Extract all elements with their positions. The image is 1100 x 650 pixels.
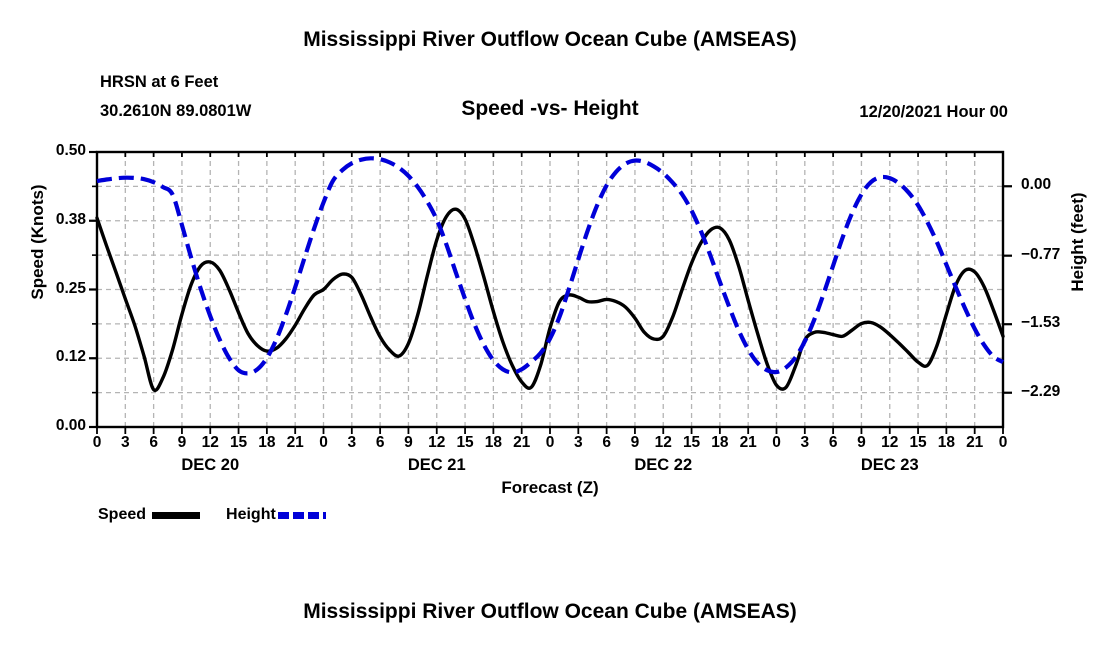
x-tick-label: 0: [762, 434, 792, 452]
x-tick-label: 18: [252, 434, 282, 452]
x-tick-label: 6: [818, 434, 848, 452]
x-day-label: DEC 21: [367, 456, 507, 475]
y-right-tick-label: −2.29: [1021, 383, 1091, 401]
y-left-tick-label: 0.12: [26, 348, 86, 366]
x-tick-label: 18: [478, 434, 508, 452]
x-tick-label: 12: [422, 434, 452, 452]
x-tick-label: 0: [535, 434, 565, 452]
legend-label-speed: Speed: [98, 507, 146, 523]
y-left-tick-label: 0.25: [26, 280, 86, 298]
x-tick-label: 21: [507, 434, 537, 452]
x-tick-label: 9: [620, 434, 650, 452]
x-day-label: DEC 22: [593, 456, 733, 475]
y-left-tick-label: 0.50: [26, 142, 86, 160]
page-footer-title: Mississippi River Outflow Ocean Cube (AM…: [0, 600, 1100, 624]
x-tick-label: 3: [563, 434, 593, 452]
x-tick-label: 21: [733, 434, 763, 452]
x-tick-label: 12: [195, 434, 225, 452]
x-tick-label: 9: [393, 434, 423, 452]
x-tick-label: 6: [592, 434, 622, 452]
data-series-layer: [97, 158, 1003, 390]
chart-legend: Speed Height: [98, 507, 326, 523]
gridlines: [97, 152, 1003, 427]
x-tick-label: 18: [931, 434, 961, 452]
x-tick-label: 6: [139, 434, 169, 452]
x-tick-label: 12: [875, 434, 905, 452]
x-tick-label: 18: [705, 434, 735, 452]
x-tick-label: 12: [648, 434, 678, 452]
y-left-tick-label: 0.38: [26, 211, 86, 229]
x-tick-label: 0: [309, 434, 339, 452]
legend-swatch-speed-icon: [152, 512, 200, 519]
x-tick-label: 0: [988, 434, 1018, 452]
x-tick-label: 9: [167, 434, 197, 452]
x-tick-label: 21: [280, 434, 310, 452]
x-tick-label: 15: [677, 434, 707, 452]
x-tick-label: 15: [224, 434, 254, 452]
x-tick-label: 9: [846, 434, 876, 452]
y-left-tick-label: 0.00: [26, 417, 86, 435]
x-tick-label: 21: [960, 434, 990, 452]
axis-ticks: [89, 152, 1012, 434]
y-right-tick-label: 0.00: [1021, 176, 1091, 194]
y-right-tick-label: −1.53: [1021, 314, 1091, 332]
legend-swatch-height-icon: [278, 512, 326, 519]
x-tick-label: 15: [450, 434, 480, 452]
x-day-label: DEC 20: [140, 456, 280, 475]
x-tick-label: 3: [110, 434, 140, 452]
chart-page: Mississippi River Outflow Ocean Cube (AM…: [0, 0, 1100, 650]
x-tick-label: 6: [365, 434, 395, 452]
legend-label-height: Height: [226, 507, 276, 523]
y-right-tick-label: −0.77: [1021, 246, 1091, 264]
x-tick-label: 3: [337, 434, 367, 452]
x-tick-label: 0: [82, 434, 112, 452]
x-tick-label: 3: [790, 434, 820, 452]
chart-plot-area: [0, 0, 1100, 650]
x-tick-label: 15: [903, 434, 933, 452]
x-day-label: DEC 23: [820, 456, 960, 475]
